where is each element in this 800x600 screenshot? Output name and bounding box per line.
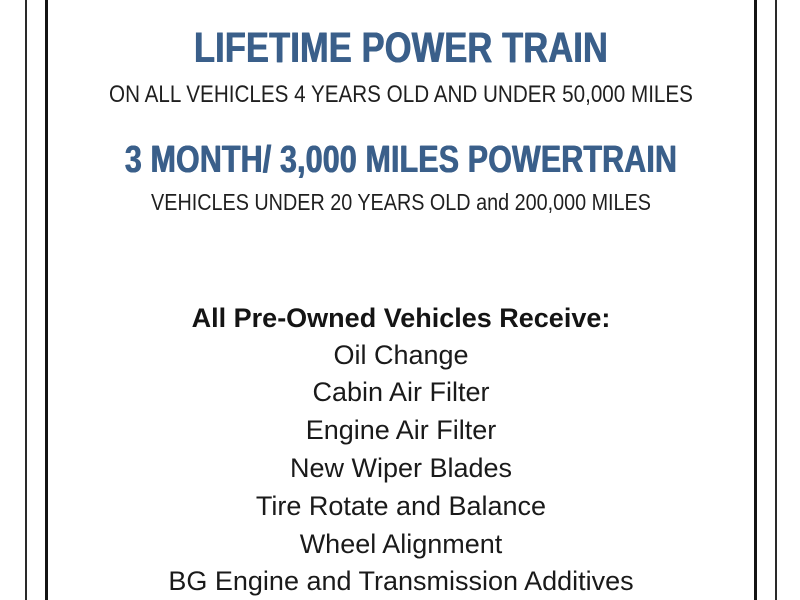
frame-rule-right-outer bbox=[775, 0, 777, 600]
frame-rule-left-outer bbox=[25, 0, 27, 600]
service-item: Cabin Air Filter bbox=[48, 374, 754, 412]
warranty-subtext: ON ALL VEHICLES 4 YEARS OLD AND UNDER 50… bbox=[97, 83, 704, 107]
warranty-headline: 3 MONTH/ 3,000 MILES POWERTRAIN bbox=[119, 141, 684, 179]
included-services-section: All Pre-Owned Vehicles Receive: Oil Chan… bbox=[48, 301, 754, 600]
service-item: Tire Rotate and Balance bbox=[48, 488, 754, 526]
frame-rule-right-inner bbox=[754, 0, 757, 600]
service-item: Engine Air Filter bbox=[48, 412, 754, 450]
dealership-warranty-poster: LIFETIME POWER TRAIN ON ALL VEHICLES 4 Y… bbox=[0, 0, 800, 600]
warranty-subtext: VEHICLES UNDER 20 YEARS OLD and 200,000 … bbox=[97, 191, 704, 214]
service-item: Wheel Alignment bbox=[48, 526, 754, 564]
services-section-title: All Pre-Owned Vehicles Receive: bbox=[48, 301, 754, 337]
service-item: Oil Change bbox=[48, 337, 754, 375]
service-item: New Wiper Blades bbox=[48, 450, 754, 488]
poster-content: LIFETIME POWER TRAIN ON ALL VEHICLES 4 Y… bbox=[48, 0, 754, 600]
service-item: BG Engine and Transmission Additives bbox=[48, 563, 754, 600]
warranty-headline: LIFETIME POWER TRAIN bbox=[119, 27, 684, 70]
warranty-offer-3month-powertrain: 3 MONTH/ 3,000 MILES POWERTRAIN VEHICLES… bbox=[48, 141, 754, 214]
warranty-offer-lifetime-powertrain: LIFETIME POWER TRAIN ON ALL VEHICLES 4 Y… bbox=[48, 27, 754, 107]
